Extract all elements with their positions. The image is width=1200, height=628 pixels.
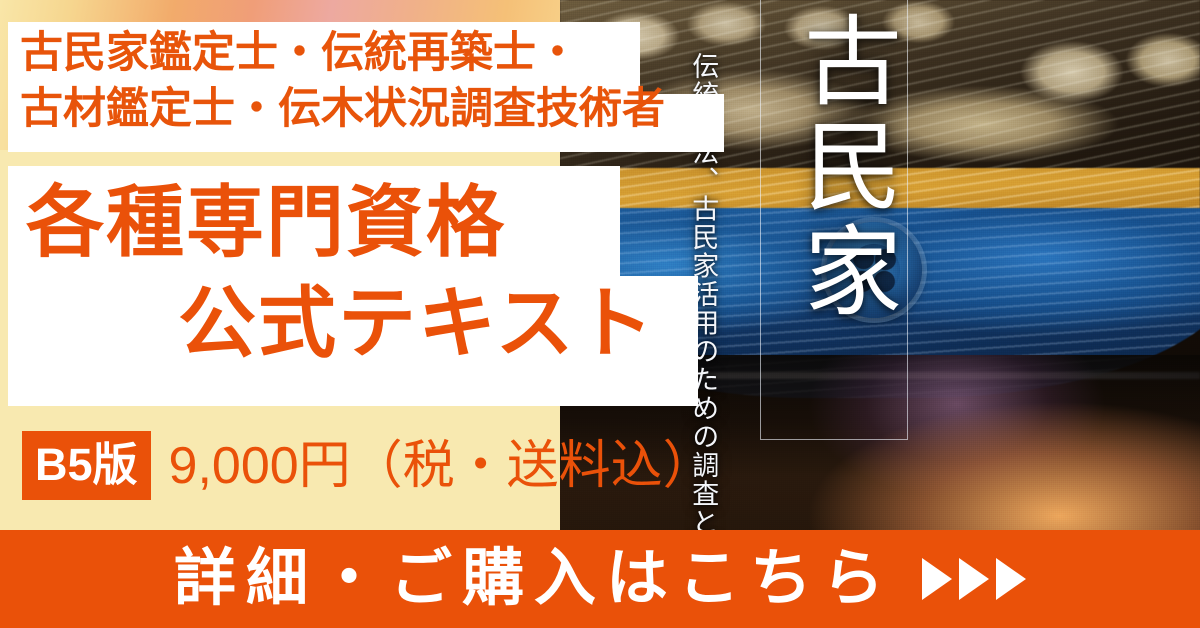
format-badge: B5版 — [22, 431, 151, 500]
price-row: B5版 9,000円（税・送料込） — [22, 431, 715, 500]
chevron-right-icon — [996, 558, 1026, 600]
subheadline-line-2: 古材鑑定士・伝木状況調査技術者 — [20, 82, 720, 138]
price-amount: 9,000円（税・送料込） — [169, 440, 715, 492]
cover-title: 古民家 — [765, 10, 905, 325]
subheadline-line-1: 古民家鑑定士・伝統再築士・ — [20, 26, 720, 82]
chevron-right-icon — [922, 558, 952, 600]
cta-bar[interactable]: 詳細・ご購入はこちら — [0, 530, 1200, 628]
headline-line-1: 各種専門資格 — [18, 172, 708, 273]
cta-label: 詳細・ご購入はこちら — [174, 548, 894, 610]
subheadline: 古民家鑑定士・伝統再築士・ 古材鑑定士・伝木状況調査技術者 — [20, 26, 720, 138]
promo-banner: 古民家 伝統構法、古民家活用のための調査と再生の 古民家鑑定士・伝統再築士・ 古… — [0, 0, 1200, 628]
headline-line-2: 公式テキスト — [18, 273, 708, 374]
cta-arrows — [922, 558, 1026, 600]
chevron-right-icon — [959, 558, 989, 600]
headline: 各種専門資格 公式テキスト — [18, 172, 708, 375]
